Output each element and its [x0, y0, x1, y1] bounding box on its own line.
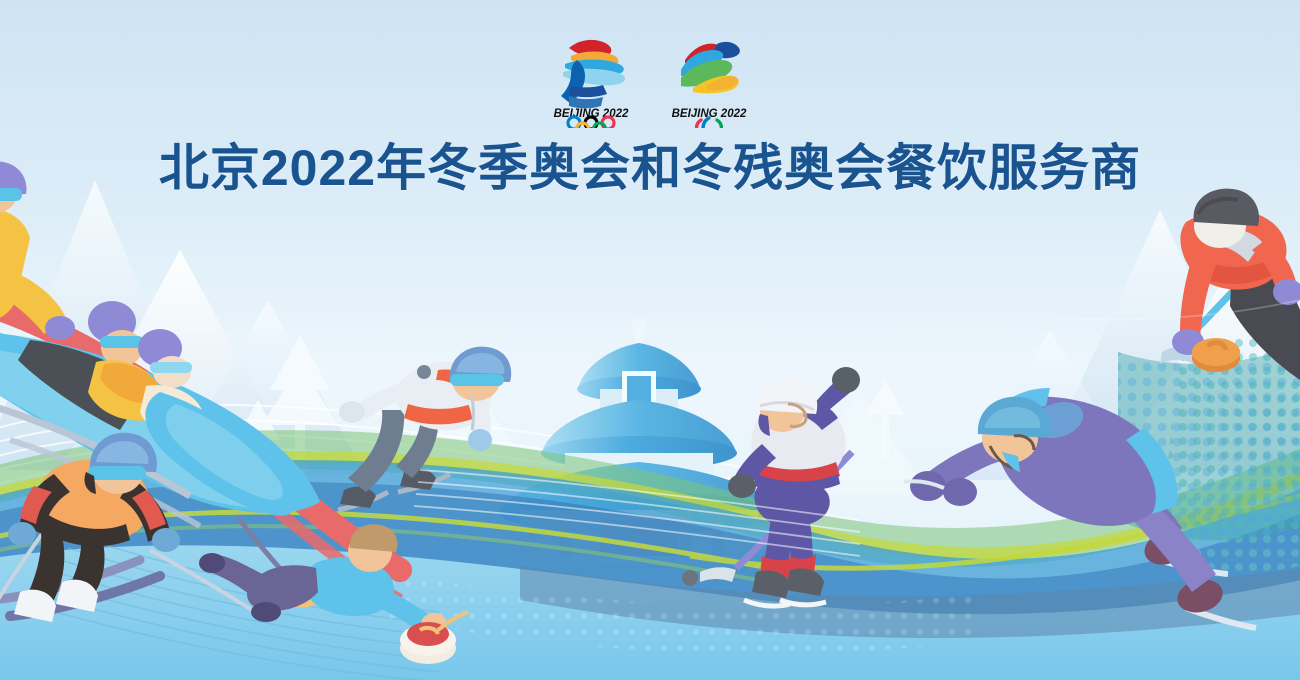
olympic-emblem[interactable]: BEIJING 2022 [541, 30, 641, 128]
beijing-2022-banner: BEIJING 2022 [0, 0, 1300, 680]
olympic-ribbon-dancing-figure [561, 40, 625, 108]
paralympic-emblem[interactable]: BEIJING 2022 [659, 30, 759, 128]
paralympic-ribbon-flying-figure [681, 42, 740, 93]
agitos-symbol [697, 118, 722, 128]
emblem-row: BEIJING 2022 [0, 0, 1300, 128]
page-title: 北京2022年冬季奥会和冬残奥会餐饮服务商 [0, 142, 1300, 195]
banner-header: BEIJING 2022 [0, 0, 1300, 195]
